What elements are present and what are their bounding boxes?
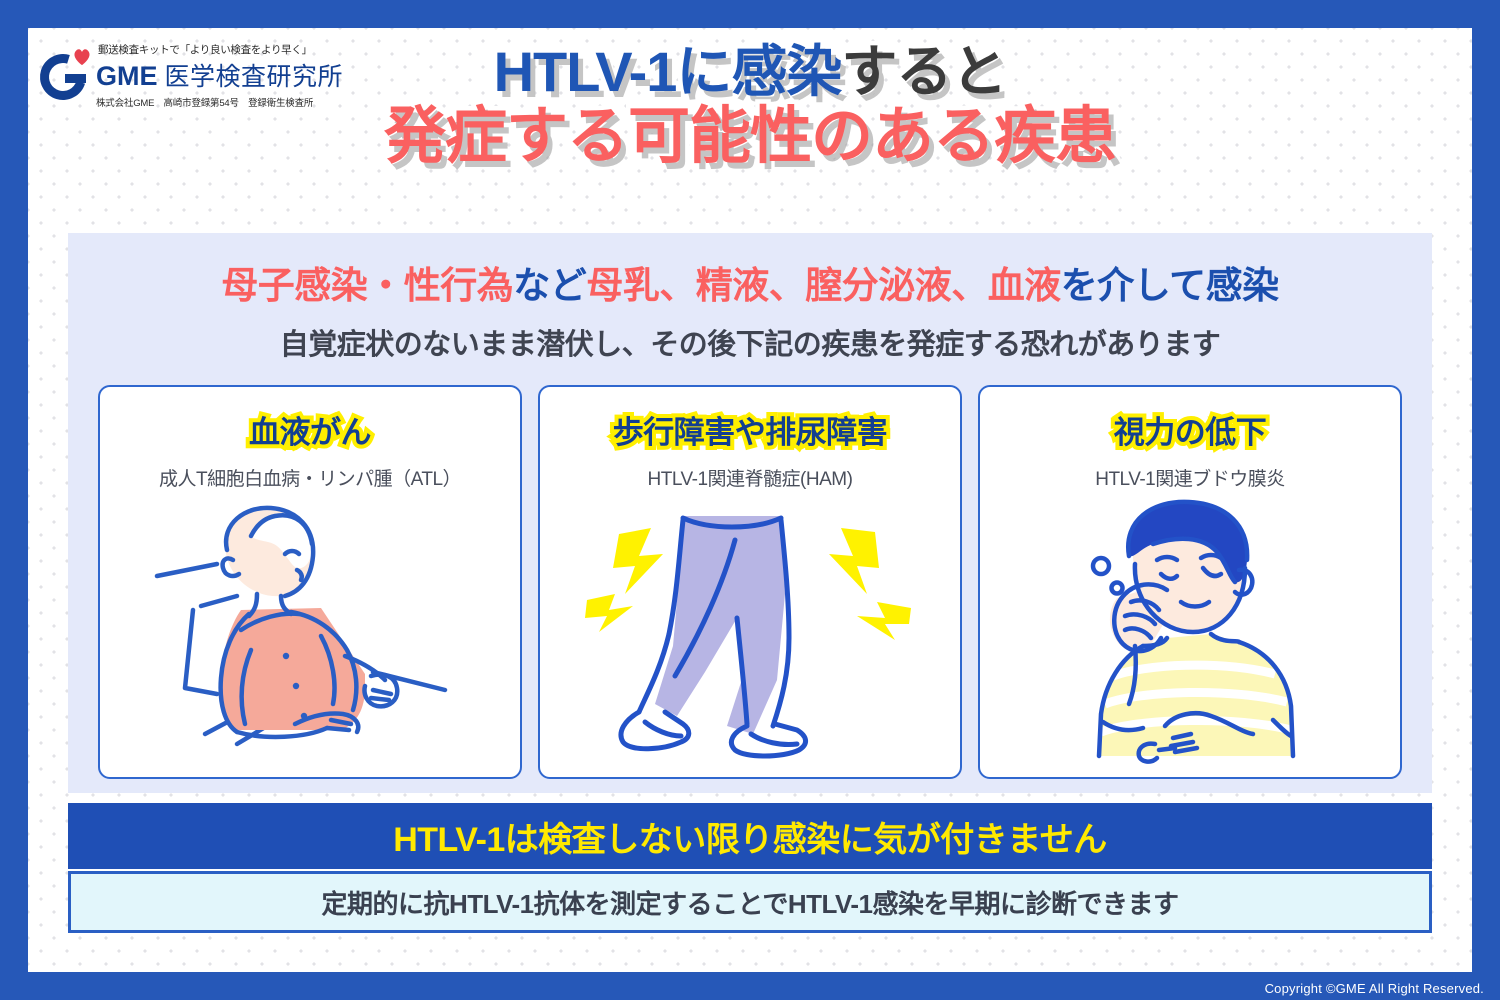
gme-logo: 郵送検査キットで「より良い検査をより早く」 GME 医学検査研究所 株式会社GM…: [36, 36, 326, 114]
disease-card-vision: 視力の低下 HTLV-1関連ブドウ膜炎: [978, 385, 1402, 779]
brand-name-en: GME: [96, 61, 158, 92]
title-line1-highlight: HTLV-1に感染: [494, 40, 842, 103]
disease-card-gait-urinary: 歩行障害や排尿障害 HTLV-1関連脊髄症(HAM): [538, 385, 962, 779]
title-line2: 発症する可能性のある疾患: [384, 102, 1116, 171]
person-rubbing-eye-illustration: [980, 493, 1400, 773]
person-resting-in-bed-illustration: [100, 493, 520, 773]
secondary-message-banner: 定期的に抗HTLV-1抗体を測定することでHTLV-1感染を早期に診断できます: [68, 871, 1432, 933]
primary-message-text: HTLV-1は検査しない限り感染に気が付きません: [393, 812, 1107, 861]
lead-part3: 母乳、精液、膣分泌液、血液: [586, 265, 1061, 306]
brand-name-ja: 医学検査研究所: [165, 57, 344, 93]
card-subtitle: 成人T細胞白血病・リンパ腫（ATL）: [100, 464, 520, 491]
disease-card-list: 血液がん 成人T細胞白血病・リンパ腫（ATL）: [68, 385, 1432, 779]
lead-part1: 母子感染・性行為: [221, 265, 513, 306]
copyright-notice: Copyright ©GME All Right Reserved.: [1265, 981, 1484, 996]
brand-registration: 株式会社GME 高崎市登録第54号 登録衛生検査所: [96, 95, 343, 109]
main-panel: 母子感染・性行為など母乳、精液、膣分泌液、血液を介して感染 自覚症状のないまま潜…: [68, 233, 1432, 793]
card-heading: 歩行障害や排尿障害: [540, 407, 960, 452]
card-heading: 視力の低下: [980, 407, 1400, 452]
latency-note: 自覚症状のないまま潜伏し、その後下記の疾患を発症する恐れがあります: [68, 321, 1432, 363]
title-line1-tail: すると: [841, 40, 1006, 103]
card-heading: 血液がん: [100, 407, 520, 452]
card-subtitle: HTLV-1関連脊髄症(HAM): [540, 464, 960, 491]
lead-part4: を介して感染: [1061, 265, 1279, 306]
brand-tagline: 郵送検査キットで「より良い検査をより早く」: [98, 42, 343, 57]
disease-card-blood-cancer: 血液がん 成人T細胞白血病・リンパ腫（ATL）: [98, 385, 522, 779]
transmission-lead: 母子感染・性行為など母乳、精液、膣分泌液、血液を介して感染: [68, 255, 1432, 309]
secondary-message-text: 定期的に抗HTLV-1抗体を測定することでHTLV-1感染を早期に診断できます: [322, 884, 1179, 921]
lead-part2: など: [513, 265, 586, 306]
card-subtitle: HTLV-1関連ブドウ膜炎: [980, 464, 1400, 491]
primary-message-banner: HTLV-1は検査しない限り感染に気が付きません: [68, 803, 1432, 869]
walking-legs-with-pain-bolts-illustration: [540, 493, 960, 773]
poster-frame: 郵送検査キットで「より良い検査をより早く」 GME 医学検査研究所 株式会社GM…: [28, 28, 1472, 972]
heart-icon: [72, 48, 92, 66]
g-heart-logo-icon: [40, 48, 94, 102]
